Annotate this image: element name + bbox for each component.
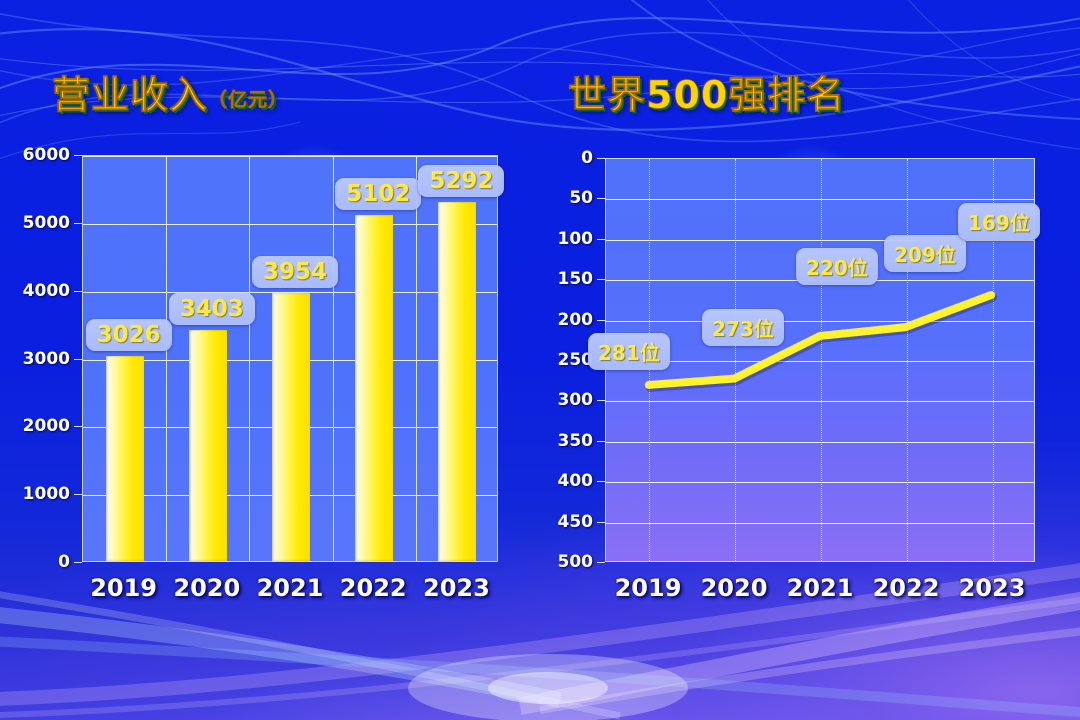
left-chart-title-unit: （亿元）: [208, 89, 288, 111]
left-chart-title-main: 营业收入: [52, 73, 208, 117]
data-label-2021: 220位: [796, 248, 878, 285]
y-axis-tick-label: 150: [558, 269, 594, 289]
data-label-2023: 169位: [958, 203, 1040, 240]
x-axis-label-2019: 2019: [90, 574, 157, 602]
y-axis-tick-label: 50: [569, 188, 593, 208]
y-axis-tick-mark: [74, 291, 82, 292]
gridline-vertical: [166, 156, 167, 561]
y-axis-tick-mark: [597, 320, 605, 321]
y-axis-tick-mark: [597, 522, 605, 523]
x-axis-label-2023: 2023: [423, 574, 490, 602]
y-axis-tick-mark: [597, 400, 605, 401]
data-label-2022: 5102: [335, 178, 421, 210]
y-axis-tick-label: 1000: [23, 484, 70, 504]
y-axis-tick-label: 0: [58, 552, 70, 572]
data-label-2019: 3026: [86, 319, 172, 351]
gridline-vertical: [416, 156, 417, 561]
y-axis-tick-label: 2000: [23, 416, 70, 436]
y-axis-tick-mark: [597, 441, 605, 442]
y-axis-tick-label: 6000: [23, 145, 70, 165]
x-axis-label-2023: 2023: [959, 574, 1026, 602]
y-axis-tick-label: 350: [558, 431, 594, 451]
x-axis-label-2020: 2020: [701, 574, 768, 602]
data-label-2020: 273位: [702, 309, 784, 346]
left-chart-plot-area: [82, 155, 498, 562]
y-axis-tick-label: 300: [558, 390, 594, 410]
left-chart-title: 营业收入（亿元）: [52, 64, 288, 119]
x-axis-label-2022: 2022: [873, 574, 940, 602]
gridline-horizontal: [83, 224, 497, 225]
y-axis-tick-mark: [74, 223, 82, 224]
bar-2019: [106, 356, 144, 561]
bar-2023: [438, 202, 476, 561]
bar-2021: [272, 293, 310, 561]
y-axis-tick-label: 5000: [23, 213, 70, 233]
x-axis-label-2021: 2021: [257, 574, 324, 602]
y-axis-tick-label: 500: [558, 552, 594, 572]
right-chart-title-main: 世界500强排名: [568, 73, 845, 117]
y-axis-tick-label: 400: [558, 471, 594, 491]
bar-2020: [189, 330, 227, 561]
y-axis-tick-label: 200: [558, 310, 594, 330]
y-axis-tick-mark: [597, 198, 605, 199]
gridline-vertical: [249, 156, 250, 561]
y-axis-tick-label: 450: [558, 512, 594, 532]
y-axis-tick-mark: [74, 359, 82, 360]
right-chart-title: 世界500强排名: [568, 64, 845, 119]
y-axis-tick-label: 0: [581, 148, 593, 168]
gridline-horizontal: [83, 156, 497, 157]
gridline-vertical: [333, 156, 334, 561]
data-label-2019: 281位: [588, 333, 670, 370]
y-axis-tick-label: 4000: [23, 281, 70, 301]
y-axis-tick-label: 100: [558, 229, 594, 249]
x-axis-label-2021: 2021: [787, 574, 854, 602]
y-axis-tick-mark: [597, 562, 605, 563]
y-axis-tick-mark: [597, 279, 605, 280]
data-label-2021: 3954: [252, 256, 338, 288]
y-axis-tick-mark: [74, 562, 82, 563]
data-label-2022: 209位: [884, 235, 966, 272]
y-axis-tick-label: 3000: [23, 349, 70, 369]
y-axis-tick-mark: [74, 155, 82, 156]
bar-2022: [355, 215, 393, 561]
y-axis-tick-mark: [597, 481, 605, 482]
y-axis-tick-mark: [597, 239, 605, 240]
y-axis-tick-mark: [74, 426, 82, 427]
x-axis-label-2020: 2020: [173, 574, 240, 602]
x-axis-label-2022: 2022: [340, 574, 407, 602]
x-axis-label-2019: 2019: [615, 574, 682, 602]
y-axis-tick-mark: [74, 494, 82, 495]
data-label-2020: 3403: [169, 293, 255, 325]
data-label-2023: 5292: [418, 165, 504, 197]
y-axis-tick-mark: [597, 158, 605, 159]
